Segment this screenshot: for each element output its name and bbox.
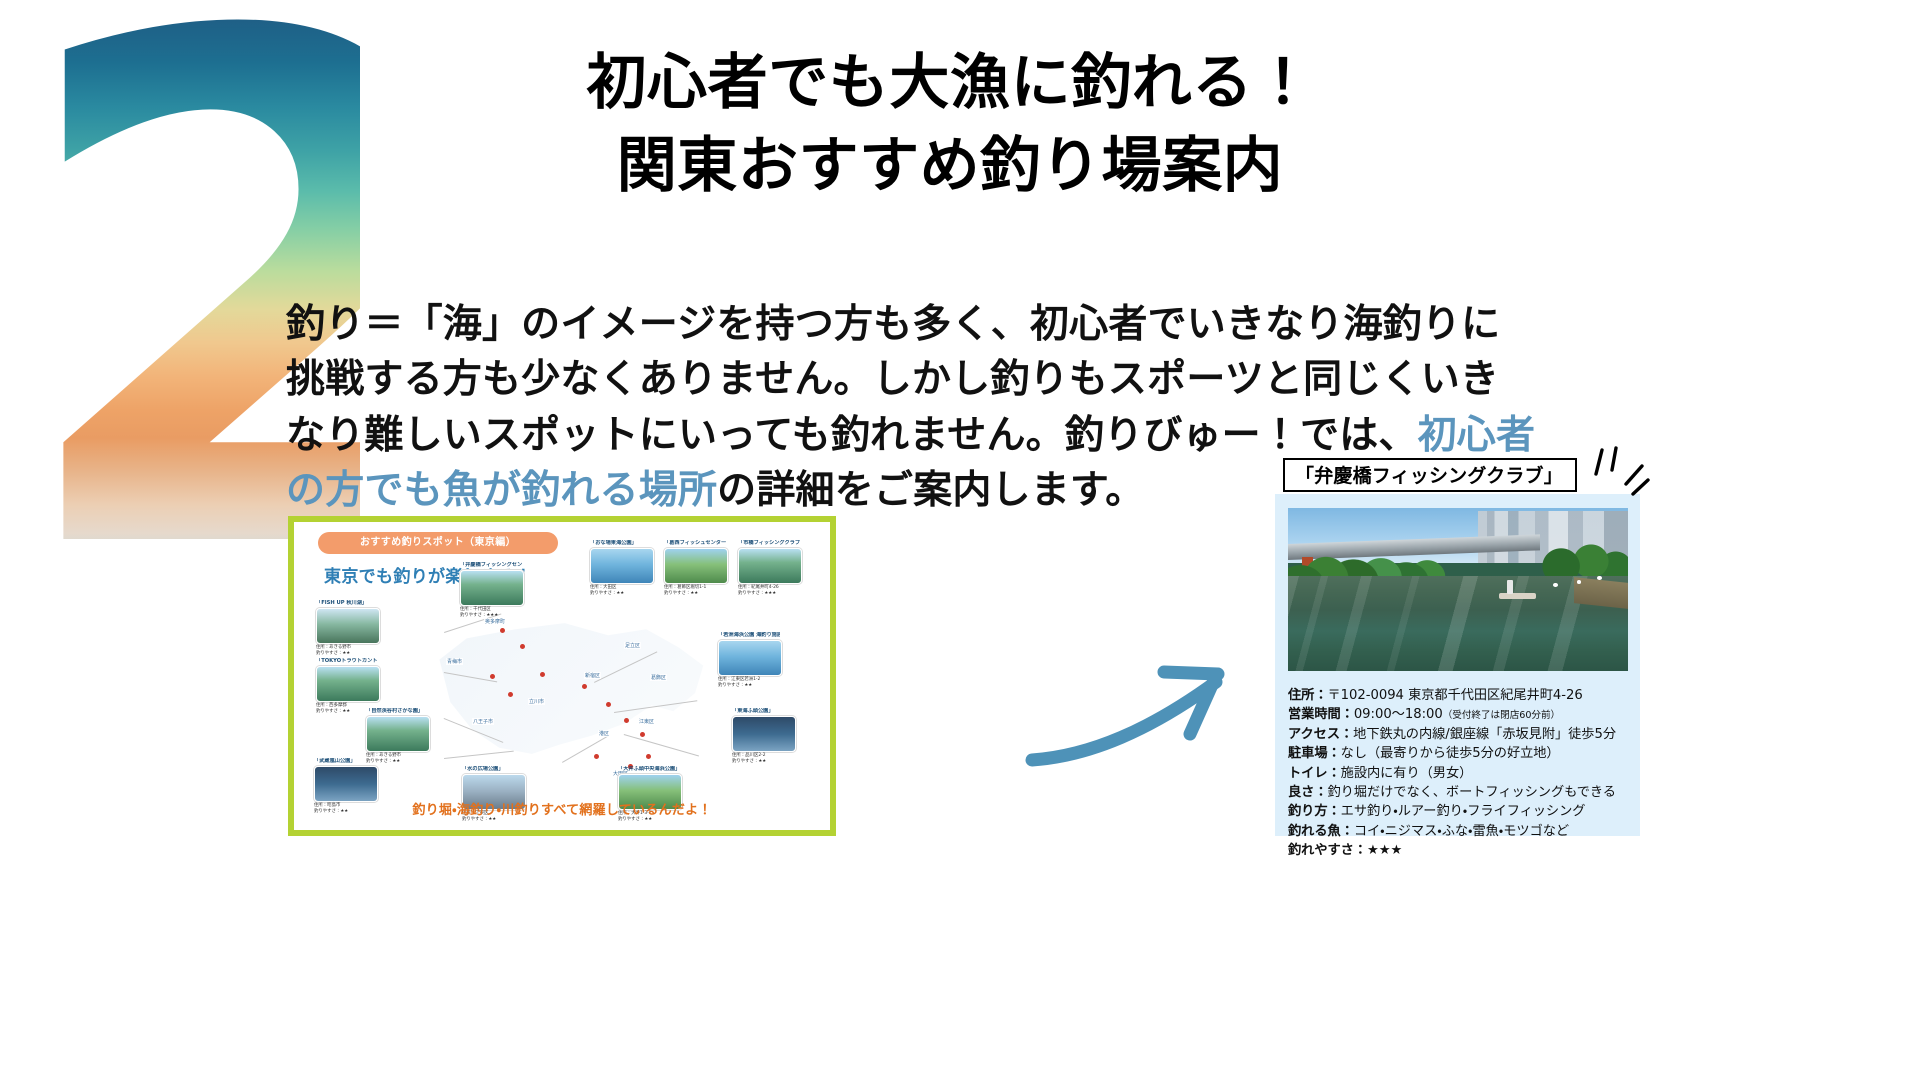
tokyo-map-shape — [434, 614, 706, 766]
body-segment-1: 釣り＝「海」のイメージを持つ方も多く、初心者でいきなり海釣りに挑戦する方も少なく… — [286, 302, 1500, 458]
info-card-details: 住所：〒102-0094 東京都千代田区紀尾井町4-26 営業時間：09:00〜… — [1288, 686, 1632, 861]
map-spot-meta-2: 釣りやすさ：★★ — [590, 591, 652, 597]
map-area-label: 江東区 — [638, 718, 655, 725]
map-spot-title: 「若洲海浜公園 海釣り施設」 — [718, 632, 780, 639]
map-dot — [594, 754, 599, 759]
detail-row: 住所：〒102-0094 東京都千代田区紀尾井町4-26 — [1288, 686, 1632, 705]
map-spot-meta-2: 釣りやすさ：★★ — [462, 817, 524, 823]
map-spot-meta-2: 釣りやすさ：★★★ — [460, 613, 522, 619]
pointer-arrow — [1030, 610, 1250, 830]
map-spot-title: 「武蔵嵐山公園」 — [314, 758, 376, 765]
map-spot[interactable]: 「東海ふ頭公園」 住所：品川区2-2 釣りやすさ：★★ — [732, 708, 794, 765]
map-spot-meta-2: 釣りやすさ：★★ — [316, 651, 378, 657]
sparkle-icon — [1586, 444, 1650, 506]
map-area-label: 足立区 — [624, 642, 641, 649]
detail-value: ★★★ — [1367, 843, 1402, 858]
map-spot-title: 「弁慶橋フィッシングセンター」 — [460, 562, 522, 569]
map-spot-meta-2: 釣りやすさ：★★ — [718, 683, 780, 689]
info-card-photo — [1288, 508, 1628, 671]
map-connector — [624, 734, 699, 756]
map-spot-meta-1: 住所：紀尾井町4-26 — [738, 585, 800, 591]
photo-boat — [1499, 593, 1536, 600]
map-spot-photo — [718, 640, 782, 676]
detail-row: 営業時間：09:00〜18:00（受付終了は閉店60分前） — [1288, 705, 1632, 724]
map-spot[interactable]: 「市橋フィッシングクラブ」 住所：紀尾井町4-26 釣りやすさ：★★★ — [738, 540, 800, 597]
detail-value: 施設内に有り（男女） — [1341, 766, 1473, 781]
detail-row: アクセス：地下鉄丸の内線/銀座線「赤坂見附」徒歩5分 — [1288, 725, 1632, 744]
detail-row: 釣れやすさ：★★★ — [1288, 841, 1632, 860]
map-spot-meta-1: 住所：江東区若洲1-2 — [718, 677, 780, 683]
map-spot-meta-1: 住所：品川区2-2 — [732, 753, 794, 759]
map-spot-title: 「TOKYOトラウトカントリー」 — [316, 658, 378, 665]
map-area-label: 立川市 — [528, 698, 545, 705]
detail-row: 良さ：釣り堀だけでなく、ボートフィッシングもできる — [1288, 783, 1632, 802]
photo-float — [1553, 583, 1557, 587]
map-spot-photo — [460, 570, 524, 606]
map-area-label: 八王子市 — [472, 718, 494, 725]
map-spot[interactable]: 「FISH UP 秋川湖」 住所：あきる野市 釣りやすさ：★★ — [316, 600, 378, 657]
map-spot-meta-1: 住所：千代田区 — [460, 607, 522, 613]
map-dot — [582, 684, 587, 689]
map-dot — [520, 644, 525, 649]
photo-float — [1577, 580, 1581, 584]
map-spot-meta-1: 住所：大田区 — [590, 585, 652, 591]
map-spot[interactable]: 「若洲海浜公園 海釣り施設」 住所：江東区若洲1-2 釣りやすさ：★★ — [718, 632, 780, 689]
body-segment-2: の詳細をご案内します。 — [717, 468, 1144, 513]
detail-value: 地下鉄丸の内線/銀座線「赤坂見附」徒歩5分 — [1353, 727, 1616, 742]
detail-label: 営業時間： — [1288, 707, 1354, 722]
map-dot — [490, 674, 495, 679]
detail-row: 釣れる魚：コイ・ニジマス・ふな・雷魚・モツゴなど — [1288, 822, 1632, 841]
detail-label: 釣り方： — [1288, 804, 1341, 819]
detail-value: 〒102-0094 東京都千代田区紀尾井町4-26 — [1327, 688, 1582, 703]
detail-label: 釣れる魚： — [1288, 824, 1354, 839]
map-spot-title: 「おな場東海公園」 — [590, 540, 652, 547]
map-dot — [540, 672, 545, 677]
map-spot-photo — [664, 548, 728, 584]
map-spot-photo — [732, 716, 796, 752]
map-dot — [640, 732, 645, 737]
detail-label: 住所： — [1288, 688, 1327, 703]
map-spot-meta-2: 釣りやすさ：★★★ — [738, 591, 800, 597]
detail-value: エサ釣り・ルアー釣り・フライフィッシング — [1341, 804, 1586, 819]
map-spot[interactable]: 「弁慶橋フィッシングセンター」 住所：千代田区 釣りやすさ：★★★ — [460, 562, 522, 619]
detail-label: アクセス： — [1288, 727, 1353, 742]
map-spot-title: 「水の広場公園」 — [462, 766, 524, 773]
map-spot-photo — [738, 548, 802, 584]
map-dot — [500, 628, 505, 633]
map-spot-meta-2: 釣りやすさ：★★ — [664, 591, 726, 597]
detail-label: トイレ： — [1288, 766, 1341, 781]
map-spot-photo — [590, 548, 654, 584]
detail-value: コイ・ニジマス・ふな・雷魚・モツゴなど — [1354, 824, 1569, 839]
map-dot — [508, 692, 513, 697]
map-area-label: 葛飾区 — [650, 674, 667, 681]
detail-note: （受付終了は閉店60分前） — [1443, 710, 1560, 721]
map-spot[interactable]: 「TOKYOトラウトカントリー」 住所：西多摩郡 釣りやすさ：★★ — [316, 658, 378, 715]
detail-value: 09:00〜18:00 — [1354, 707, 1443, 722]
detail-label: 良さ： — [1288, 785, 1327, 800]
map-spot-meta-2: 釣りやすさ：★★ — [732, 759, 794, 765]
map-spot-title: 「大井ふ頭中央海浜公園」 — [618, 766, 680, 773]
map-area-label: 港区 — [598, 730, 610, 737]
map-spot-meta-1: 住所：あきる野市 — [316, 645, 378, 651]
map-spot-meta-1: 住所：葛飾区堀切1-1 — [664, 585, 726, 591]
map-area-label: 青梅市 — [446, 658, 463, 665]
map-area-label: 奥多摩町 — [484, 618, 506, 625]
map-connector — [444, 751, 514, 759]
detail-row: 釣り方：エサ釣り・ルアー釣り・フライフィッシング — [1288, 802, 1632, 821]
detail-value: なし（最寄りから徒歩5分の好立地） — [1341, 746, 1560, 761]
detail-label: 釣れやすさ： — [1288, 843, 1367, 858]
map-spot-photo — [316, 608, 380, 644]
map-spot-photo — [314, 766, 378, 802]
page-title: 初心者でも大漁に釣れる！ 関東おすすめ釣り場案内 — [400, 42, 1500, 208]
map-dot — [624, 718, 629, 723]
map-spot[interactable]: 「自然渓谷村さかな園」 住所：あきる野市 釣りやすさ：★★ — [366, 708, 428, 765]
title-line-2: 関東おすすめ釣り場案内 — [400, 125, 1500, 208]
detail-value: 釣り堀だけでなく、ボートフィッシングもできる — [1327, 785, 1616, 800]
map-spot-photo — [316, 666, 380, 702]
map-dot — [606, 702, 611, 707]
map-spot[interactable]: 「おな場東海公園」 住所：大田区 釣りやすさ：★★ — [590, 540, 652, 597]
map-footline: 釣り堀・海釣り・川釣りすべて網羅しているんだよ！ — [294, 799, 830, 818]
map-infographic-inner: おすすめ釣りスポット（東京編） 東京でも釣りが楽しめる！ 奥多摩町 青梅市 八王… — [294, 522, 830, 830]
map-spot[interactable]: 「葛西フィッシュセンター」 住所：葛飾区堀切1-1 釣りやすさ：★★ — [664, 540, 726, 597]
map-banner: おすすめ釣りスポット（東京編） — [318, 532, 558, 554]
map-spot-title: 「葛西フィッシュセンター」 — [664, 540, 726, 547]
photo-right-bank — [1574, 577, 1628, 609]
detail-row: トイレ：施設内に有り（男女） — [1288, 764, 1632, 783]
map-infographic-card[interactable]: おすすめ釣りスポット（東京編） 東京でも釣りが楽しめる！ 奥多摩町 青梅市 八王… — [288, 516, 836, 836]
map-spot-title: 「FISH UP 秋川湖」 — [316, 600, 378, 607]
map-spot-photo — [366, 716, 430, 752]
map-dot — [646, 754, 651, 759]
title-line-1: 初心者でも大漁に釣れる！ — [400, 42, 1500, 125]
map-spot-title: 「東海ふ頭公園」 — [732, 708, 794, 715]
map-spot-title: 「自然渓谷村さかな園」 — [366, 708, 428, 715]
map-spot-meta-2: 釣りやすさ：★★ — [618, 817, 680, 823]
info-card-title: 「弁慶橋フィッシングクラブ」 — [1283, 458, 1577, 492]
detail-label: 駐車場： — [1288, 746, 1341, 761]
detail-row: 駐車場：なし（最寄りから徒歩5分の好立地） — [1288, 744, 1632, 763]
map-spot-title: 「市橋フィッシングクラブ」 — [738, 540, 800, 547]
photo-angler — [1507, 580, 1512, 595]
map-area-label: 新宿区 — [584, 672, 601, 679]
